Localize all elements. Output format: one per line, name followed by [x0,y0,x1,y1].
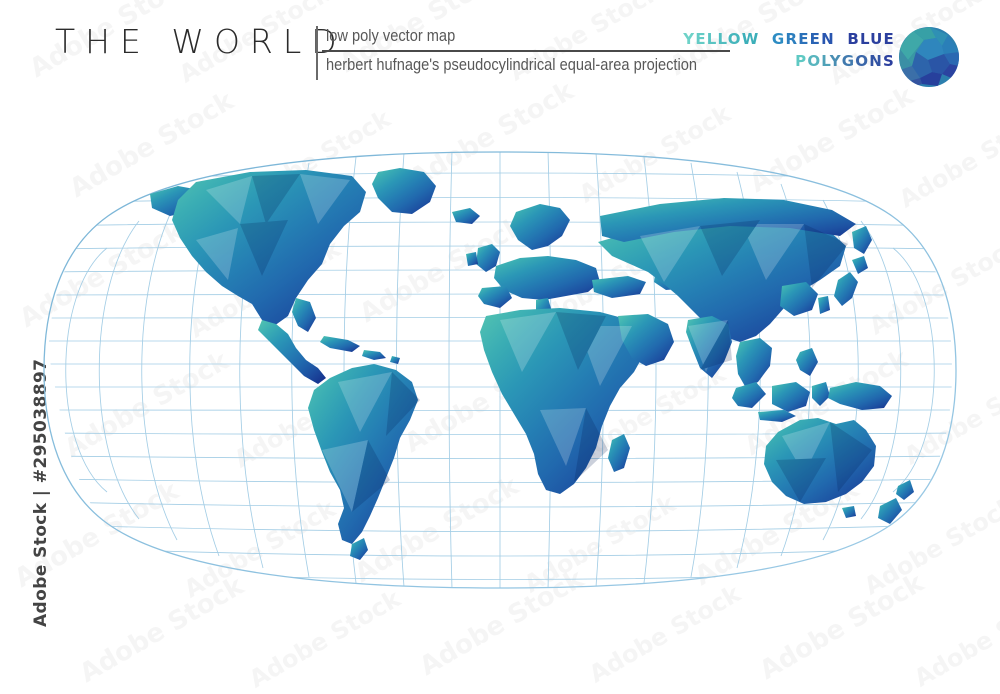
land-new-zealand-north [896,480,914,500]
land-java [758,410,796,422]
land-caribbean-small [390,356,400,364]
poster-canvas: Adobe StockAdobe StockAdobe StockAdobe S… [0,0,1000,659]
low-poly-globe-icon [898,26,960,88]
land-greenland [372,168,436,214]
palette-name-line2: POLYGONS [677,50,895,72]
land-new-zealand-south [878,498,902,524]
land-tasmania [842,506,856,518]
subtitle-vertical-divider [316,26,318,80]
land-sumatra [732,382,766,408]
palette-word-blue: BLUE [847,28,895,50]
palette-name: YELLOW GREEN BLUE POLYGONS [677,28,895,72]
land-borneo [772,382,810,412]
land-hispaniola [362,350,386,360]
subtitle-style-label: low poly vector map [326,26,455,46]
land-iberia [478,286,512,308]
poster-header: THE WORLD low poly vector map herbert hu… [0,0,1000,110]
page-title: THE WORLD [55,22,347,62]
land-florida [292,298,316,332]
land-philippines [796,348,818,376]
land-madagascar [608,434,630,472]
land-kamchatka [852,226,872,254]
land-europe [494,256,600,300]
land-cuba [320,336,360,352]
world-map [0,120,1000,620]
palette-name-line1: YELLOW GREEN BLUE [677,28,895,50]
land-korea [818,296,830,314]
palette-word-green: GREEN [772,28,835,50]
palette-word-yellow: YELLOW [683,28,759,50]
land-new-guinea [828,382,892,410]
land-ireland [466,252,478,266]
land-japan [834,272,858,306]
palette-word-polygons: POLYGONS [795,50,895,72]
land-scandinavia [510,204,570,250]
land-se-asia [736,338,772,388]
land-sulawesi [812,382,830,406]
subtitle-horizontal-divider [322,50,730,52]
subtitle-projection-label: herbert hufnage's pseudocylindrical equa… [326,55,697,75]
